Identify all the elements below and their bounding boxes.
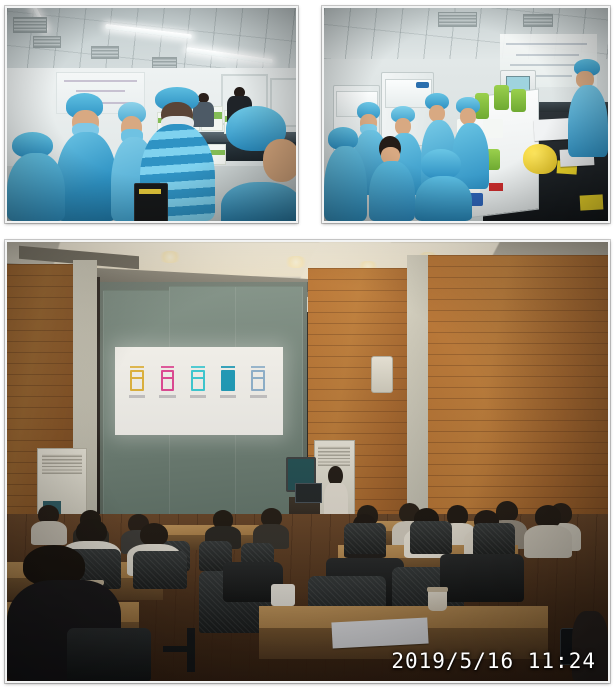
slide-icon-cap: [251, 366, 265, 369]
trainee-ppe: [7, 132, 65, 221]
instructor-ppe: [568, 59, 608, 157]
podium-laptop: [295, 483, 321, 503]
slide-icon-cap: [191, 366, 205, 369]
white-garment: [271, 584, 295, 606]
freezer-control-panel: [416, 82, 429, 89]
head: [140, 523, 168, 546]
slide-icon-5: [251, 370, 265, 391]
photo-lab-training-left[interactable]: [5, 6, 298, 223]
camera-timestamp: 2019/5/16 11:24: [391, 649, 596, 673]
photo-collage: 2019/5/16 11:24: [0, 0, 614, 695]
audience-member: [524, 505, 572, 558]
wall-speaker: [371, 356, 393, 393]
ceiling-vent: [438, 12, 477, 27]
paper-cup: [428, 587, 447, 612]
slide-icon-label: [129, 395, 146, 398]
torso: [524, 525, 572, 558]
chair: [67, 628, 151, 681]
lab-right-scene: [324, 8, 608, 221]
ppe-gown: [415, 176, 472, 221]
ceiling-vent: [33, 36, 61, 49]
slide-icon-label: [250, 395, 267, 398]
poster-text-line: [64, 80, 137, 82]
poster-text-line: [76, 90, 125, 92]
backpack: [440, 554, 524, 602]
ppe-gown: [221, 182, 296, 221]
ppe-gown: [56, 132, 117, 221]
trainee-ppe: [56, 93, 117, 221]
slide-icon-cap: [130, 366, 144, 369]
slide-icon-4: [221, 370, 235, 391]
ppe-gown: [7, 153, 65, 221]
slide-icon-label: [159, 395, 176, 398]
chair: [133, 551, 187, 588]
paper-handout: [331, 617, 428, 648]
trainee-ppe-seated: [369, 136, 414, 221]
ppe-gown: [568, 85, 608, 157]
ceiling-vent: [523, 14, 553, 27]
head: [76, 519, 107, 544]
ceiling-downlight: [157, 251, 183, 263]
trainee-ppe-foreground: [415, 149, 472, 221]
red-marker: [489, 183, 503, 192]
chair: [344, 523, 386, 554]
green-reagent-bottle: [494, 85, 508, 111]
head: [535, 505, 561, 527]
document-sheet: [534, 118, 572, 141]
slide-icon-cap: [161, 366, 175, 369]
lecture-hall-scene: 2019/5/16 11:24: [7, 242, 608, 681]
photo-lecture-hall[interactable]: 2019/5/16 11:24: [5, 240, 610, 683]
ceiling-vent: [91, 46, 119, 59]
photo-lab-training-right[interactable]: [322, 6, 610, 223]
slide-icon-1: [130, 370, 144, 391]
slide-icon-3: [191, 370, 205, 391]
green-reagent-bottle: [511, 89, 525, 112]
chair: [410, 521, 452, 554]
projection-screen: [115, 347, 283, 435]
slide-icon-2: [161, 370, 175, 391]
trainee-ppe-foreground: [221, 106, 296, 221]
lab-instrument: [134, 183, 168, 221]
sticky-note: [579, 195, 602, 211]
slide-text-line: [506, 43, 587, 45]
slide-icon-label: [190, 395, 207, 398]
slide-icon-cap: [221, 366, 235, 369]
ppe-gown: [369, 161, 414, 221]
face: [263, 139, 296, 182]
chair-leg: [163, 646, 193, 652]
slide-text-line: [516, 54, 580, 56]
trainee-ppe: [324, 127, 367, 221]
ceiling-vent: [13, 17, 47, 34]
lab-left-scene: [7, 8, 296, 221]
surgical-cap: [421, 149, 462, 179]
biohazard-waste-bag: [523, 144, 557, 174]
ppe-gown: [324, 146, 367, 221]
slide-icon-label: [220, 395, 237, 398]
chair: [473, 523, 515, 556]
